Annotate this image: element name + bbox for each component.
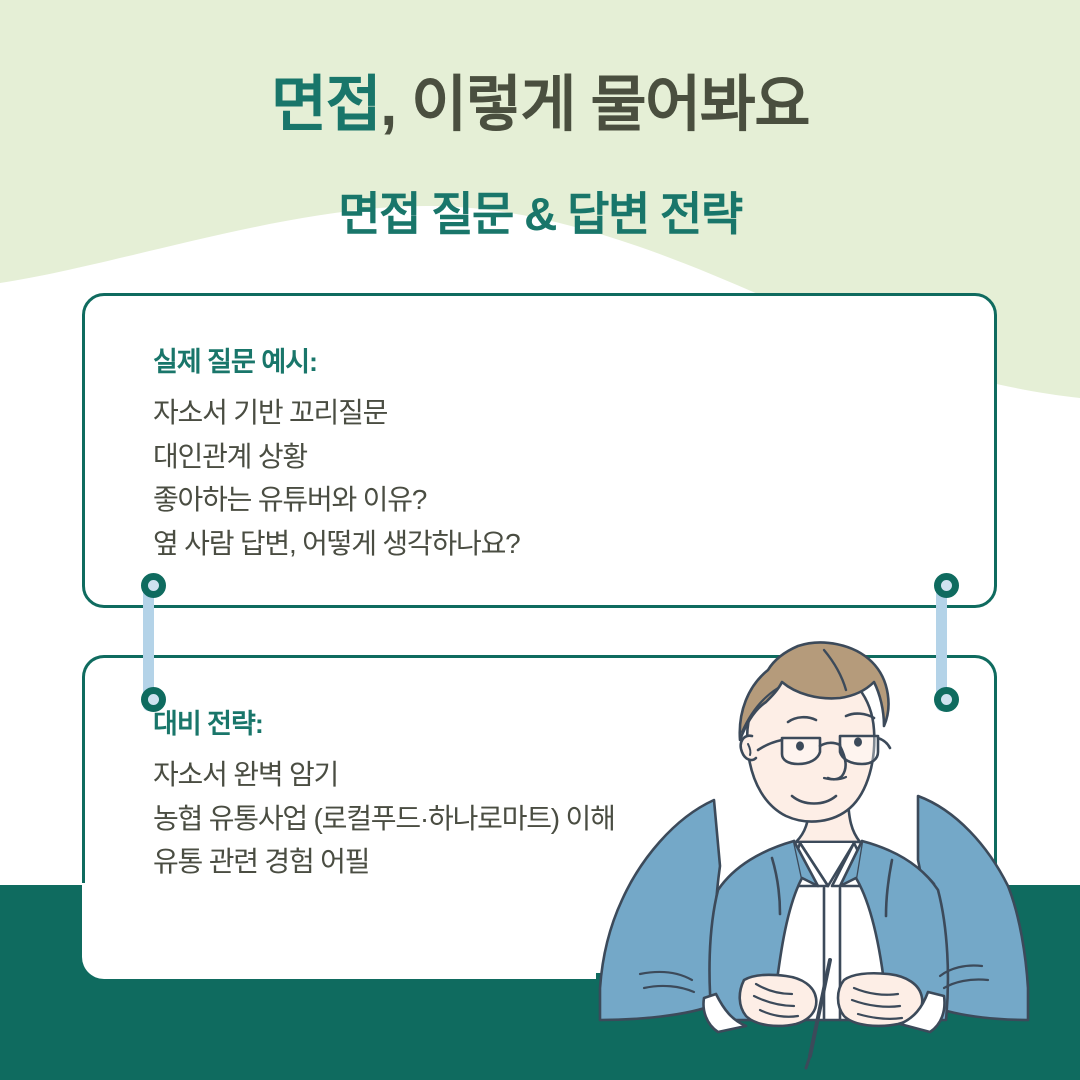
title-accent-text: 면접: [271, 70, 380, 138]
connector-right-knob-top-icon: [934, 573, 959, 598]
page-subtitle: 면접 질문 & 답변 전략: [0, 178, 1080, 244]
card-questions-line-4: 옆 사람 답변, 어떻게 생각하나요?: [153, 522, 994, 566]
connector-left-knob-bottom-icon: [141, 687, 166, 712]
interviewer-illustration: [596, 628, 1080, 1080]
title-rest-text: , 이렇게 물어봐요: [380, 70, 809, 138]
page-title: 면접, 이렇게 물어봐요: [0, 72, 1080, 136]
card-questions-line-1: 자소서 기반 꼬리질문: [153, 391, 994, 435]
card-questions-line-3: 좋아하는 유튜버와 이유?: [153, 478, 994, 522]
card-questions-line-2: 대인관계 상황: [153, 435, 994, 479]
card-questions-heading: 실제 질문 예시:: [153, 340, 994, 379]
card-questions-content: 실제 질문 예시: 자소서 기반 꼬리질문 대인관계 상황 좋아하는 유튜버와 …: [85, 296, 994, 566]
connector-left-knob-top-icon: [141, 573, 166, 598]
infographic-canvas: 면접, 이렇게 물어봐요 면접 질문 & 답변 전략 실제 질문 예시: 자소서…: [0, 0, 1080, 1080]
card-questions: 실제 질문 예시: 자소서 기반 꼬리질문 대인관계 상황 좋아하는 유튜버와 …: [82, 293, 997, 608]
subtitle-text: 면접 질문 & 답변 전략: [0, 178, 1080, 244]
